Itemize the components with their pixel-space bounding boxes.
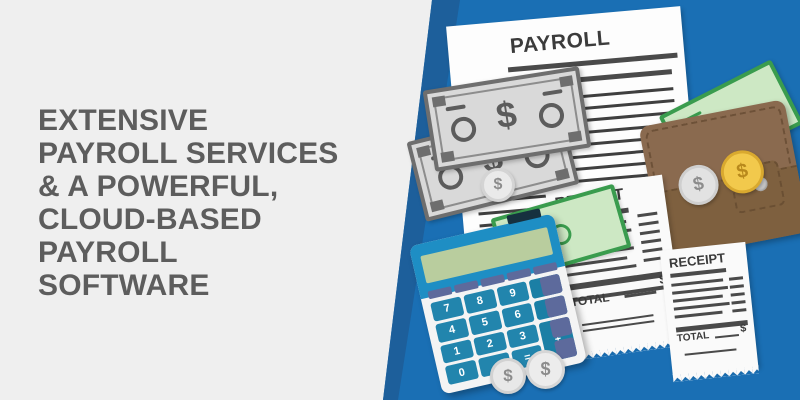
coin-loose-icon: $ [526, 350, 565, 389]
calculator-side-key[interactable] [544, 295, 568, 318]
coin-loose-icon: $ [490, 358, 526, 394]
receipt-small: RECEIPT TOTAL $ [660, 242, 759, 375]
calculator-key-6[interactable]: 6 [501, 302, 535, 327]
receipt-small-title: RECEIPT [668, 250, 726, 271]
coin-loose-icon: $ [481, 168, 515, 202]
calculator-key-0[interactable]: 0 [445, 360, 479, 385]
calculator-key-7[interactable]: 7 [430, 296, 464, 321]
calculator-key-8[interactable]: 8 [463, 289, 497, 314]
payroll-document-title: PAYROLL [509, 26, 611, 59]
page-title: EXTENSIVE PAYROLL SERVICES & A POWERFUL,… [38, 104, 388, 302]
calculator-side-key[interactable] [549, 316, 573, 339]
receipt-small-currency: $ [740, 322, 747, 335]
receipt-large-total-label: TOTAL [570, 290, 610, 309]
payroll-services-banner: EXTENSIVE PAYROLL SERVICES & A POWERFUL,… [0, 0, 800, 400]
calculator-side-key[interactable] [539, 274, 563, 297]
calculator-key-9[interactable]: 9 [496, 281, 530, 306]
receipt-small-total-label: TOTAL [676, 330, 709, 344]
calculator-key-5[interactable]: 5 [468, 310, 502, 335]
calculator-key-4[interactable]: 4 [435, 318, 469, 343]
